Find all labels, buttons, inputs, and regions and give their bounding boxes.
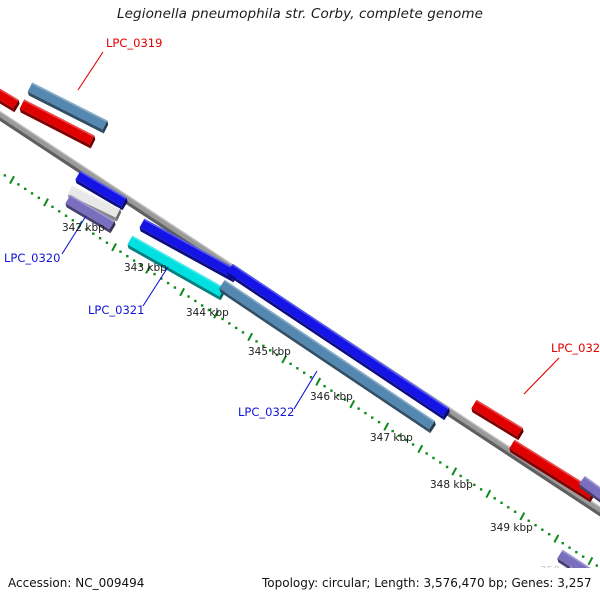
- axis-tick-label: 342 kbp: [62, 222, 105, 234]
- axis-tick-label: 343 kbp: [124, 262, 167, 274]
- genome-viewer[interactable]: 342 kbp343 kbp344 kbp345 kbp346 kbp347 k…: [0, 0, 600, 600]
- axis-tick-label: 344 kbp: [186, 307, 229, 319]
- label-leader-lines: [62, 52, 559, 409]
- axis-tick-label: 346 kbp: [310, 391, 353, 403]
- gene-box[interactable]: [0, 76, 20, 113]
- axis-tick-label: 347 kbp: [370, 432, 413, 444]
- gene-label-lpc_0323[interactable]: LPC_0323: [551, 341, 600, 355]
- accession-text: Accession: NC_009494: [8, 576, 144, 590]
- topology-text: Topology: circular; Length: 3,576,470 bp…: [262, 576, 592, 590]
- axis-tick-label: 348 kbp: [430, 479, 473, 491]
- gene-box[interactable]: [509, 440, 595, 502]
- tick-labels: 342 kbp343 kbp344 kbp345 kbp346 kbp347 k…: [62, 222, 583, 577]
- axis-tick-label: 349 kbp: [490, 522, 533, 534]
- gene-label-lpc_0322[interactable]: LPC_0322: [238, 405, 294, 419]
- axis-tick-label: 345 kbp: [248, 346, 291, 358]
- gene-features-track[interactable]: [0, 76, 600, 588]
- status-bar: Accession: NC_009494 Topology: circular;…: [0, 570, 600, 600]
- gene-label-lpc_0319[interactable]: LPC_0319: [106, 36, 162, 50]
- genome-map-canvas[interactable]: 342 kbp343 kbp344 kbp345 kbp346 kbp347 k…: [0, 0, 600, 600]
- gene-label-lpc_0321[interactable]: LPC_0321: [88, 303, 144, 317]
- page-title: Legionella pneumophila str. Corby, compl…: [0, 6, 600, 22]
- gene-label-lpc_0320[interactable]: LPC_0320: [4, 251, 60, 265]
